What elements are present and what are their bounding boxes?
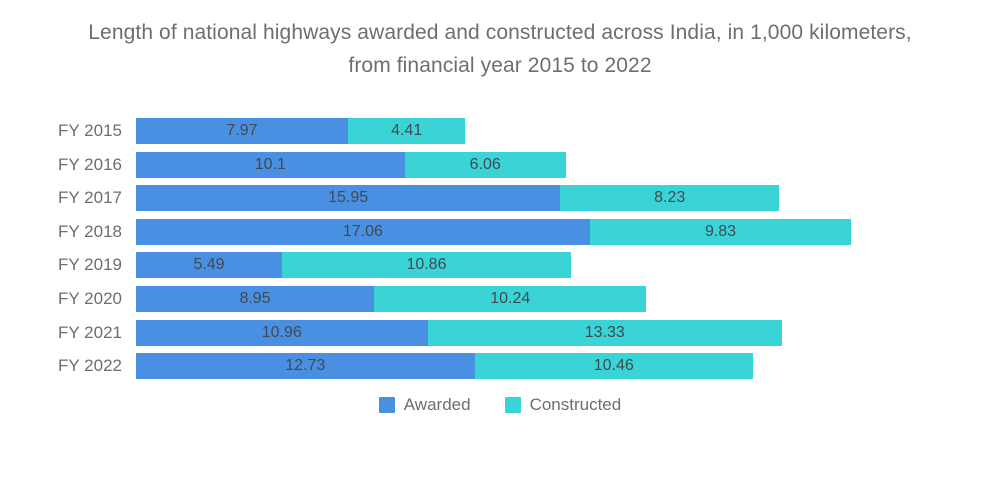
bar-segment-constructed[interactable]: 8.23 xyxy=(560,185,779,211)
bar-segment-constructed[interactable]: 10.24 xyxy=(374,286,646,312)
bar-segment-constructed[interactable]: 9.83 xyxy=(590,219,851,245)
bar-track: 17.069.83 xyxy=(136,219,851,245)
bar-value-label: 6.06 xyxy=(470,156,501,174)
bar-segment-awarded[interactable]: 5.49 xyxy=(136,252,282,278)
category-label-fy-2022: FY 2022 xyxy=(0,353,122,379)
bar-row: FY 20195.4910.86 xyxy=(0,252,1000,278)
chart-title: Length of national highways awarded and … xyxy=(0,16,1000,82)
bar-row: FY 20157.974.41 xyxy=(0,118,1000,144)
legend-item-awarded[interactable]: Awarded xyxy=(379,396,471,414)
bar-segment-constructed[interactable]: 4.41 xyxy=(348,118,465,144)
bar-row: FY 20208.9510.24 xyxy=(0,286,1000,312)
bar-value-label: 5.49 xyxy=(193,256,224,274)
bar-value-label: 17.06 xyxy=(343,223,383,241)
legend-label: Awarded xyxy=(404,396,471,414)
bar-track: 5.4910.86 xyxy=(136,252,571,278)
category-label-fy-2021: FY 2021 xyxy=(0,320,122,346)
bar-row: FY 201610.16.06 xyxy=(0,152,1000,178)
category-label-fy-2016: FY 2016 xyxy=(0,152,122,178)
bar-segment-awarded[interactable]: 8.95 xyxy=(136,286,374,312)
bar-track: 7.974.41 xyxy=(136,118,465,144)
chart-container: Length of national highways awarded and … xyxy=(0,0,1000,504)
bar-segment-constructed[interactable]: 6.06 xyxy=(405,152,566,178)
bar-track: 8.9510.24 xyxy=(136,286,646,312)
category-label-fy-2015: FY 2015 xyxy=(0,118,122,144)
bar-segment-awarded[interactable]: 15.95 xyxy=(136,185,560,211)
bar-value-label: 7.97 xyxy=(226,122,257,140)
category-label-fy-2018: FY 2018 xyxy=(0,219,122,245)
bar-value-label: 8.23 xyxy=(654,189,685,207)
bar-value-label: 13.33 xyxy=(585,324,625,342)
bar-row: FY 201715.958.23 xyxy=(0,185,1000,211)
bar-track: 10.16.06 xyxy=(136,152,566,178)
bar-value-label: 10.86 xyxy=(406,256,446,274)
bar-segment-constructed[interactable]: 10.46 xyxy=(475,353,753,379)
bar-value-label: 10.24 xyxy=(490,290,530,308)
bar-segment-awarded[interactable]: 17.06 xyxy=(136,219,590,245)
legend-label: Constructed xyxy=(530,396,622,414)
category-label-fy-2020: FY 2020 xyxy=(0,286,122,312)
bar-track: 12.7310.46 xyxy=(136,353,753,379)
bar-track: 15.958.23 xyxy=(136,185,779,211)
legend-item-constructed[interactable]: Constructed xyxy=(505,396,622,414)
bar-segment-awarded[interactable]: 12.73 xyxy=(136,353,475,379)
bar-value-label: 15.95 xyxy=(328,189,368,207)
bar-segment-constructed[interactable]: 13.33 xyxy=(428,320,783,346)
bar-segment-awarded[interactable]: 10.96 xyxy=(136,320,428,346)
bar-segment-awarded[interactable]: 7.97 xyxy=(136,118,348,144)
category-label-fy-2019: FY 2019 xyxy=(0,252,122,278)
plot-area: FY 20157.974.41FY 201610.16.06FY 201715.… xyxy=(0,112,1000,384)
bar-value-label: 9.83 xyxy=(705,223,736,241)
bar-segment-constructed[interactable]: 10.86 xyxy=(282,252,571,278)
bar-row: FY 201817.069.83 xyxy=(0,219,1000,245)
bar-track: 10.9613.33 xyxy=(136,320,782,346)
legend-swatch-icon xyxy=(505,397,521,413)
bar-value-label: 12.73 xyxy=(285,357,325,375)
bar-value-label: 10.1 xyxy=(255,156,286,174)
chart-legend: AwardedConstructed xyxy=(0,396,1000,414)
bar-row: FY 202212.7310.46 xyxy=(0,353,1000,379)
bar-row: FY 202110.9613.33 xyxy=(0,320,1000,346)
bar-value-label: 8.95 xyxy=(239,290,270,308)
legend-swatch-icon xyxy=(379,397,395,413)
bar-value-label: 4.41 xyxy=(391,122,422,140)
category-label-fy-2017: FY 2017 xyxy=(0,185,122,211)
bar-value-label: 10.46 xyxy=(594,357,634,375)
bar-segment-awarded[interactable]: 10.1 xyxy=(136,152,405,178)
bar-value-label: 10.96 xyxy=(262,324,302,342)
